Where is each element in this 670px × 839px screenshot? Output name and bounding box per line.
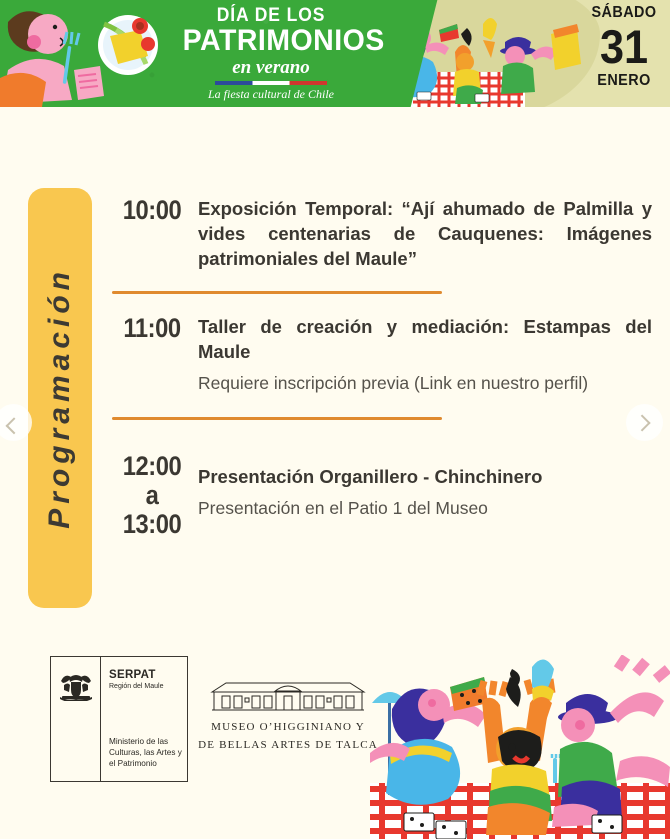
serpat-text-cell: SERPAT Región del Maule Ministerio de la… (101, 657, 187, 781)
chevron-left-icon (5, 417, 22, 434)
schedule-item[interactable]: 10:00 Exposición Temporal: “Ají ahumado … (112, 196, 652, 271)
chevron-right-icon (633, 414, 650, 431)
event-time-separator: a (117, 481, 187, 510)
date-month: ENERO (590, 72, 658, 90)
museo-line-2: DE BELLAS ARTES DE TALCA (198, 736, 378, 754)
date-day: 31 (589, 22, 659, 72)
picnic-people-illustration (370, 655, 670, 839)
logo-line-3: en verano (178, 57, 364, 79)
event-title: Presentación Organillero - Chinchinero (198, 464, 652, 489)
museo-line-1: MUSEO O’HIGGINIANO Y (198, 718, 378, 736)
event-body: Taller de creación y mediación: Estampas… (192, 314, 652, 395)
event-subtitle: Presentación en el Patio 1 del Museo (198, 496, 652, 520)
event-time: 11:00 (117, 314, 187, 343)
serpat-ministry: Ministerio de las Culturas, las Artes y … (109, 736, 187, 773)
carousel-next-button[interactable] (626, 404, 663, 441)
event-title: Exposición Temporal: “Ají ahumado de Pal… (198, 196, 652, 271)
programacion-tab: Programación (28, 188, 92, 608)
event-time-to: 13:00 (117, 510, 187, 539)
logo-line-1: DÍA DE LOS (185, 6, 356, 26)
chile-coat-of-arms-icon (59, 671, 93, 701)
serpat-crest-cell (51, 657, 101, 781)
serpat-name: SERPAT (109, 669, 187, 681)
programacion-label: Programación (43, 267, 77, 529)
chile-flag-line (215, 81, 327, 85)
schedule-list: 10:00 Exposición Temporal: “Ají ahumado … (112, 190, 652, 539)
event-title: Taller de creación y mediación: Estampas… (198, 314, 652, 364)
event-body: Presentación Organillero - Chinchinero P… (192, 452, 652, 520)
serpat-region: Región del Maule (109, 683, 187, 690)
schedule-item[interactable]: 12:00 a 13:00 Presentación Organillero -… (112, 452, 652, 539)
schedule-separator (112, 291, 442, 294)
event-time-range: 12:00 a 13:00 (117, 452, 187, 539)
event-time-from: 12:00 (117, 452, 187, 481)
event-logo: DÍA DE LOS PATRIMONIOS en verano La fies… (178, 6, 364, 101)
date-badge: SÁBADO 31 ENERO (586, 4, 662, 90)
event-time: 10:00 (117, 196, 187, 225)
schedule-separator (112, 417, 442, 420)
event-banner: DÍA DE LOS PATRIMONIOS en verano La fies… (0, 0, 670, 107)
schedule-item[interactable]: 11:00 Taller de creación y mediación: Es… (112, 314, 652, 395)
logo-line-2: PATRIMONIOS (183, 26, 360, 56)
museo-logo: MUSEO O’HIGGINIANO Y DE BELLAS ARTES DE … (198, 678, 378, 754)
museum-building-icon (208, 678, 368, 712)
event-subtitle: Requiere inscripción previa (Link en nue… (198, 371, 652, 395)
event-body: Exposición Temporal: “Ají ahumado de Pal… (192, 196, 652, 271)
logo-tagline: La fiesta cultural de Chile (178, 88, 364, 101)
serpat-logo: SERPAT Región del Maule Ministerio de la… (50, 656, 188, 782)
banner-boy-illustration (0, 0, 180, 107)
